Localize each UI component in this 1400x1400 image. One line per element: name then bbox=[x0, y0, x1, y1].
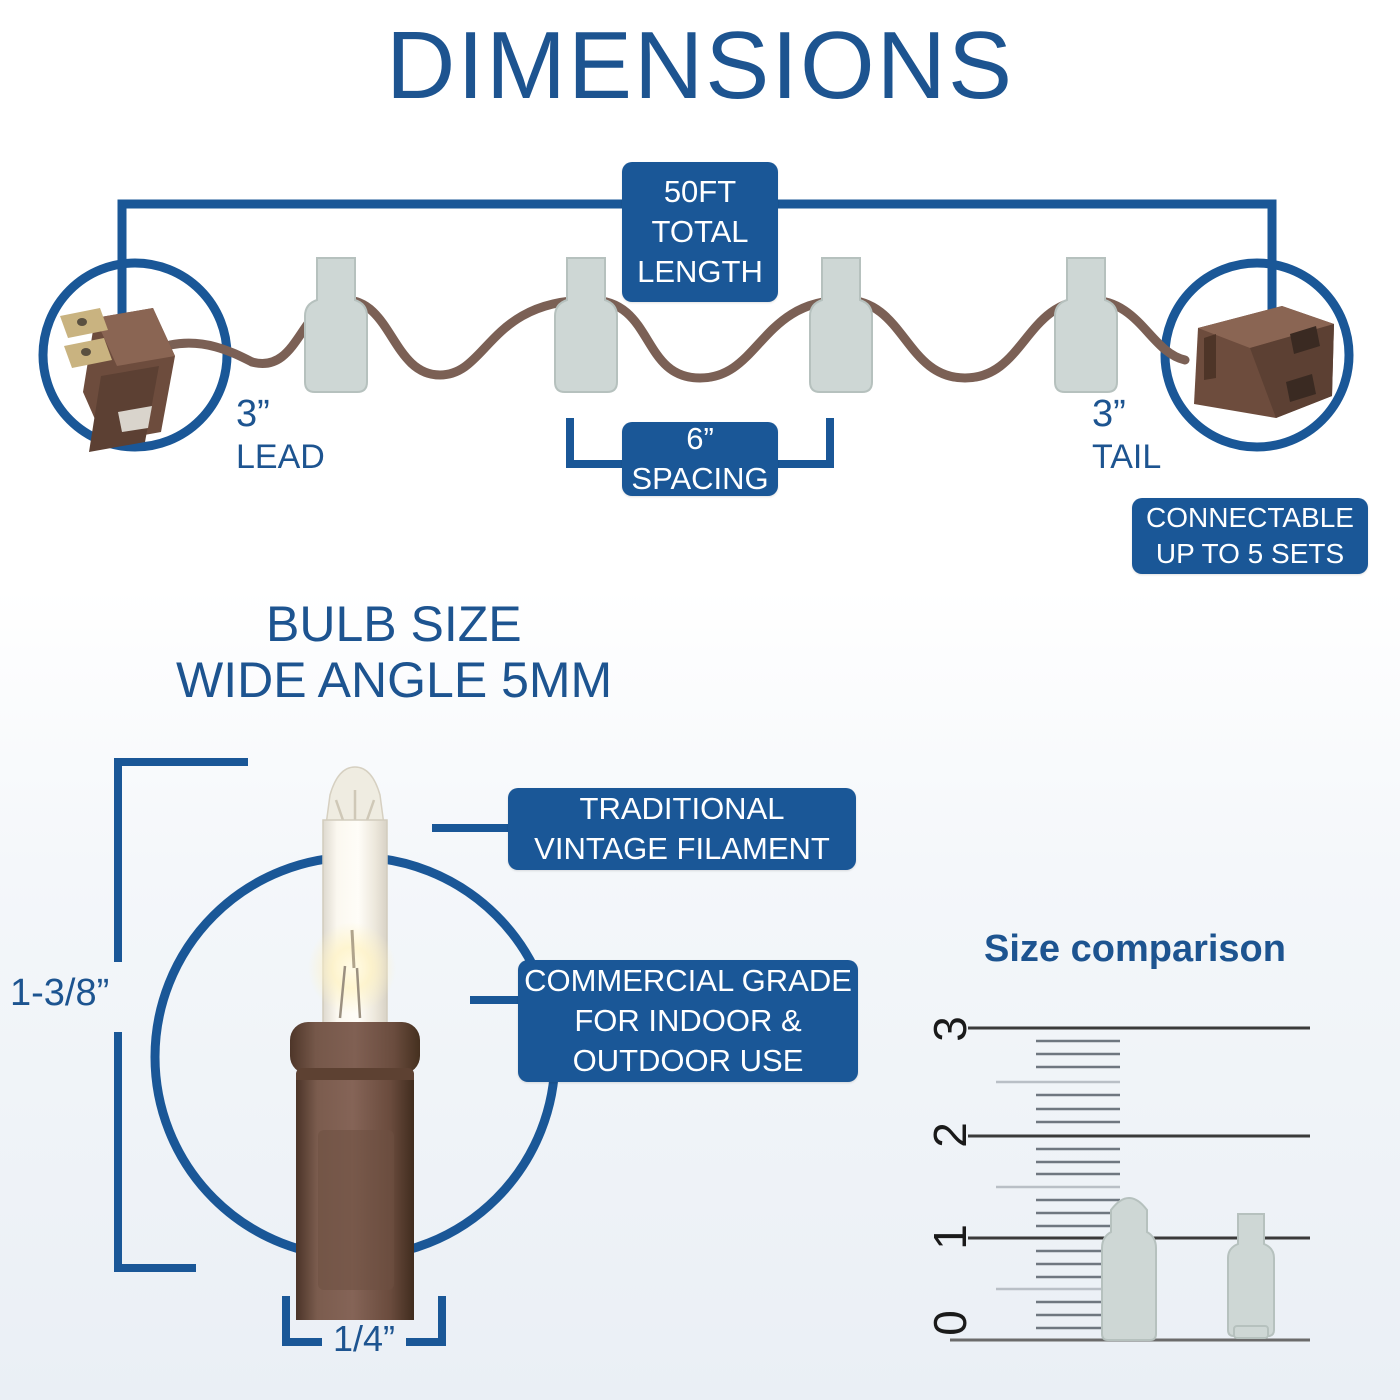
callout-spacing: 6” SPACING bbox=[622, 422, 778, 496]
callout-connectable: CONNECTABLE UP TO 5 SETS bbox=[1132, 498, 1368, 574]
grade-line3: OUTDOOR USE bbox=[573, 1041, 804, 1081]
size-comparison-title: Size comparison bbox=[984, 928, 1286, 971]
ruler-tick-1: 1 bbox=[923, 1207, 977, 1267]
comparison-bulb-mini bbox=[1228, 1214, 1274, 1338]
ruler-tick-2: 2 bbox=[923, 1105, 977, 1165]
total-length-word-total: TOTAL bbox=[651, 212, 748, 252]
filament-line1: TRADITIONAL bbox=[580, 789, 785, 829]
female-socket-icon bbox=[1194, 306, 1334, 418]
total-length-value: 50FT bbox=[664, 172, 736, 212]
comparison-bulb-wide-angle bbox=[1102, 1198, 1156, 1340]
grade-line1: COMMERCIAL GRADE bbox=[524, 961, 852, 1001]
spacing-value: 6” bbox=[686, 419, 714, 459]
ruler-tick-3: 3 bbox=[923, 999, 977, 1059]
filament-line2: VINTAGE FILAMENT bbox=[534, 829, 830, 869]
total-length-word-length: LENGTH bbox=[637, 252, 763, 292]
grade-line2: FOR INDOOR & bbox=[574, 1001, 801, 1041]
bulb-size-heading-line1: BULB SIZE bbox=[266, 592, 522, 656]
connectable-line2: UP TO 5 SETS bbox=[1156, 536, 1344, 572]
callout-commercial-grade: COMMERCIAL GRADE FOR INDOOR & OUTDOOR US… bbox=[518, 960, 858, 1082]
page-title: DIMENSIONS bbox=[0, 16, 1400, 117]
male-plug-icon bbox=[60, 308, 175, 452]
lead-label: LEAD bbox=[236, 437, 325, 477]
tail-value: 3” bbox=[1092, 392, 1161, 437]
infographic-canvas: DIMENSIONS bbox=[0, 0, 1400, 1400]
bulb-size-heading-line2: WIDE ANGLE 5MM bbox=[176, 648, 612, 712]
callout-total-length: 50FT TOTAL LENGTH bbox=[622, 162, 778, 302]
ruler-tick-0: 0 bbox=[923, 1293, 977, 1353]
bulb-height-label: 1-3/8” bbox=[10, 972, 109, 1015]
lead-dimension: 3” LEAD bbox=[236, 392, 325, 477]
tail-dimension: 3” TAIL bbox=[1092, 392, 1161, 477]
spacing-label: SPACING bbox=[631, 459, 768, 499]
lead-value: 3” bbox=[236, 392, 325, 437]
bulb-width-label: 1/4” bbox=[322, 1318, 406, 1360]
tail-label: TAIL bbox=[1092, 437, 1161, 477]
callout-vintage-filament: TRADITIONAL VINTAGE FILAMENT bbox=[508, 788, 856, 870]
connectable-line1: CONNECTABLE bbox=[1146, 500, 1354, 536]
